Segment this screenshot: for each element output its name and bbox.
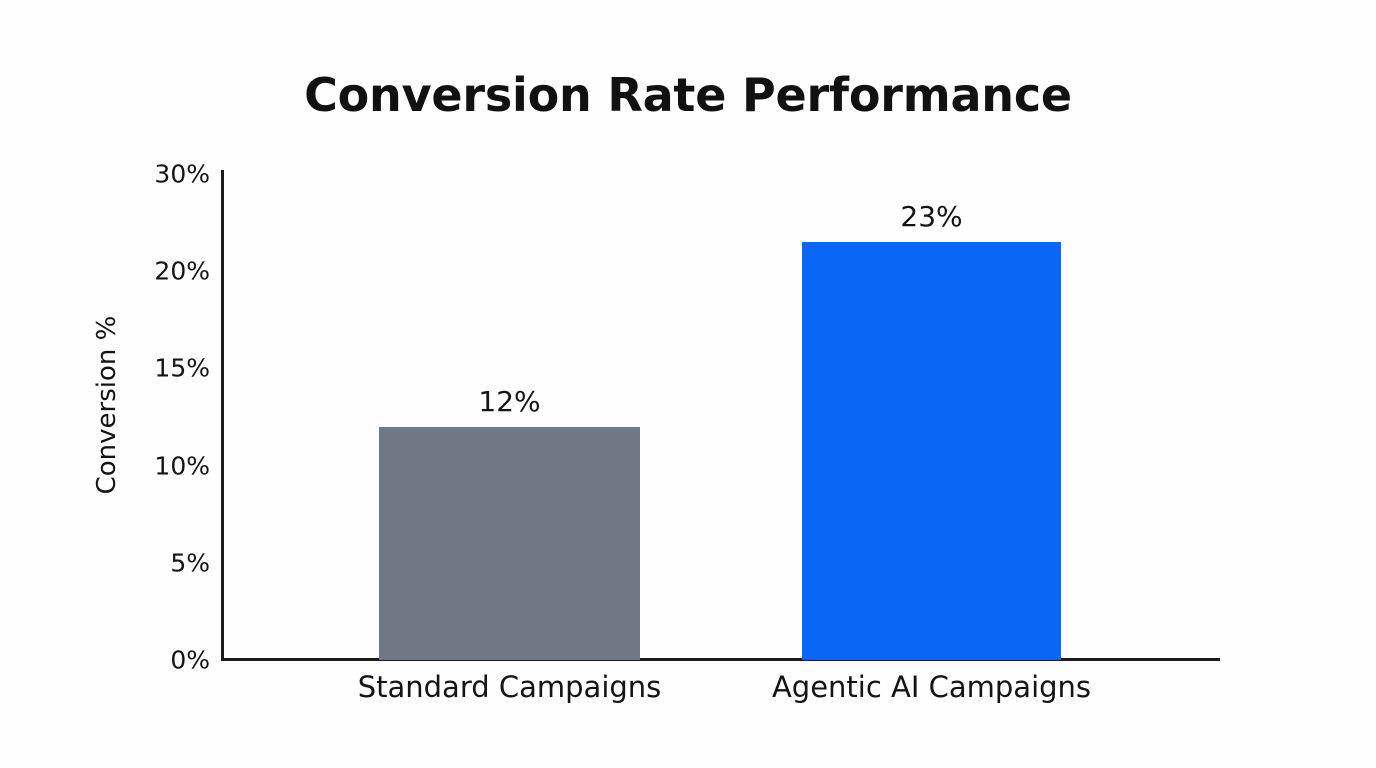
y-axis-tick-label: 10% [138, 453, 210, 478]
y-axis-line [221, 170, 224, 661]
chart-canvas: Conversion Rate Performance Conversion %… [0, 0, 1376, 768]
category-label-1: Standard Campaigns [358, 673, 662, 702]
plot-area: 0%5%10%15%20%30% 12%23% Standard Campaig… [0, 0, 1376, 768]
x-axis-line [221, 658, 1220, 661]
y-axis-tick-label: 30% [138, 162, 210, 187]
bar-1[interactable] [379, 427, 640, 660]
bar-2[interactable] [802, 242, 1061, 660]
category-label-2: Agentic AI Campaigns [772, 673, 1091, 702]
y-axis-tick-label: 0% [138, 648, 210, 673]
bar-value-label: 23% [900, 203, 962, 231]
y-axis-tick-label: 5% [138, 550, 210, 575]
y-axis-tick-label: 15% [138, 356, 210, 381]
bar-value-label: 12% [478, 388, 540, 416]
y-axis-tick-label: 20% [138, 259, 210, 284]
